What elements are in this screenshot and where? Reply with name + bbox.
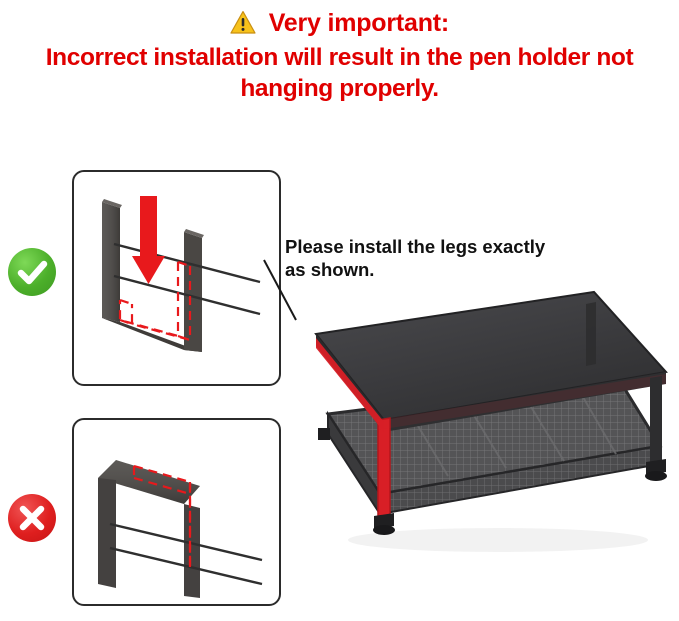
left-rear-foot <box>318 428 330 440</box>
red-down-arrow-icon <box>132 196 165 284</box>
heading-line-2: Incorrect installation will result in th… <box>0 42 679 104</box>
warning-triangle-icon <box>230 10 256 35</box>
warning-heading: Very important: Incorrect installation w… <box>0 8 679 104</box>
heading-line-1: Very important: <box>0 8 679 38</box>
red-x-circle-icon <box>8 494 56 542</box>
correct-installation-panel <box>72 170 281 386</box>
rear-right-leg <box>650 376 662 466</box>
right-foot <box>645 459 667 481</box>
product-photo <box>288 268 679 568</box>
rear-left-leg <box>586 302 596 366</box>
green-check-circle-icon <box>8 248 56 296</box>
incorrect-installation-panel <box>72 418 281 606</box>
heading-line-1-text: Very important: <box>269 9 449 37</box>
